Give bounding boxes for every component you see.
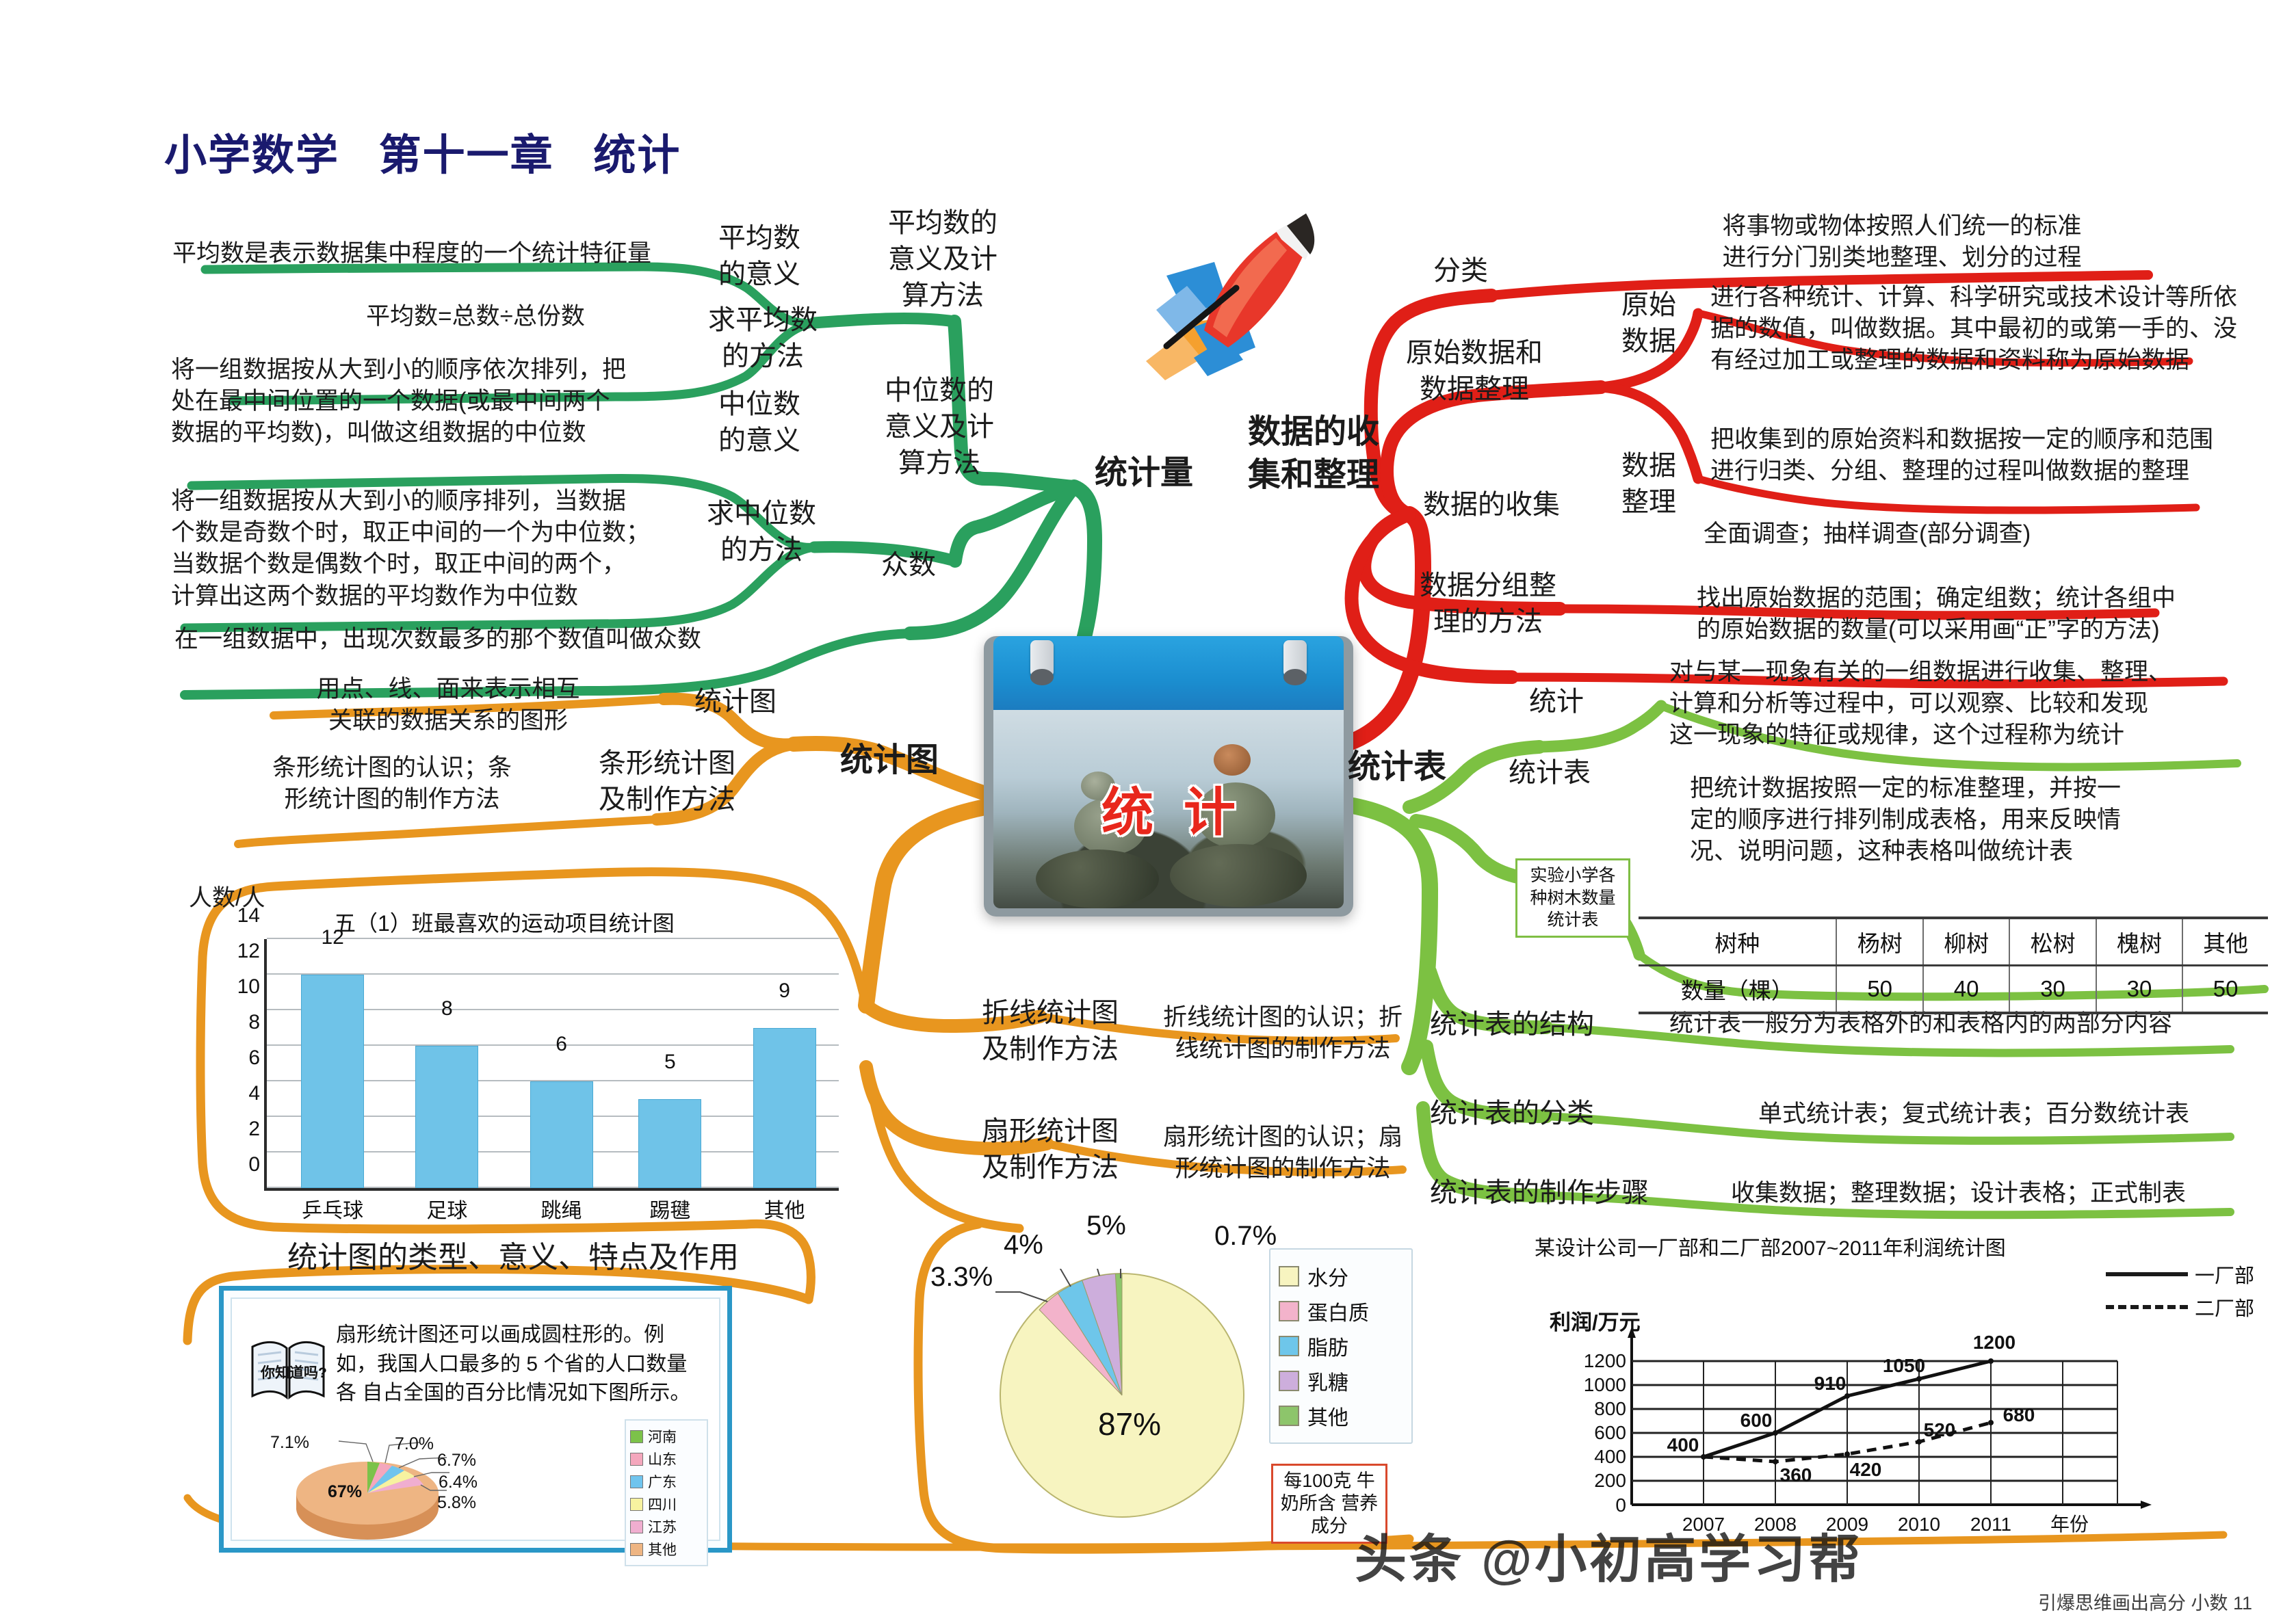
legend-row: 江苏 [630, 1516, 703, 1537]
td-row-label: 数量（棵） [1639, 966, 1836, 1014]
node-median-meaning-method[interactable]: 中位数的 意义及计 算方法 [861, 373, 1018, 481]
table-row: 数量（棵） 50 40 30 30 50 [1639, 966, 2268, 1014]
book-label: 你知道吗? [261, 1362, 327, 1382]
swatch-henan [630, 1430, 643, 1443]
swatch-fat [1279, 1336, 1299, 1356]
bar-0 [301, 975, 364, 1188]
tree-table: 树种 杨树 柳树 松树 槐树 其他 数量（棵） 50 40 30 30 50 [1639, 917, 2268, 1014]
bar-chart-plot: 0 2 4 6 8 10 12 14 12 8 6 5 9 乒乓球 足球 跳绳 … [264, 939, 839, 1191]
lc-val-s1-0: 400 [1667, 1434, 1699, 1455]
legend-water: 水分 [1307, 1261, 1348, 1291]
bar-xlabel-0: 乒乓球 [302, 1194, 363, 1224]
mindmap-page: 小学数学 第十一章 统计 统计 [0, 0, 2296, 1621]
legend-row: 其他 [630, 1539, 703, 1559]
swatch-shandong [630, 1453, 643, 1466]
bar-value-3: 5 [664, 1051, 676, 1074]
detail-median-meaning: 将一组数据按从大到小的顺序依次排列，把 处在最中间位置的一个数据(或最中间两个 … [171, 354, 670, 449]
detail-data-processing: 把收集到的原始资料和数据按一定的顺序和范围 进行归类、分组、整理的过程叫做数据的… [1710, 424, 2278, 487]
legend-row: 脂肪 [1279, 1331, 1403, 1361]
legend-shandong: 山东 [648, 1449, 677, 1469]
ytick-12: 12 [237, 940, 260, 963]
did-you-know-box: 你知道吗? 扇形统计图还可以画成圆柱形的。例 如，我国人口最多的 5 个省的人口… [219, 1286, 732, 1553]
node-mean-meaning[interactable]: 平均数 的意义 [691, 220, 828, 293]
lc-val-s1-3: 1050 [1883, 1355, 1925, 1376]
blue-box-paragraph: 扇形统计图还可以画成圆柱形的。例 如，我国人口最多的 5 个省的人口数量各 自占… [336, 1321, 692, 1408]
td-willow: 40 [1923, 966, 2009, 1014]
line-chart: 某设计公司一厂部和二厂部2007~2011年利润统计图 利润/万元 一厂部 二厂… [1529, 1231, 2268, 1559]
bar-chart-title: 五（1）班最喜欢的运动项目统计图 [334, 906, 675, 938]
ytick-14: 14 [237, 904, 260, 927]
milk-label-5: 5% [1086, 1211, 1126, 1241]
bar-4 [753, 1028, 816, 1188]
bar-xlabel-1: 足球 [426, 1194, 467, 1224]
branch-label-data-collection[interactable]: 数据的收 集和整理 [1204, 410, 1423, 497]
detail-table-classification: 单式统计表；复式统计表；百分数统计表 [1758, 1098, 2278, 1130]
detail-mode: 在一组数据中，出现次数最多的那个数值叫做众数 [174, 624, 790, 655]
node-table-structure[interactable]: 统计表的结构 [1430, 1007, 1649, 1043]
th-pine: 松树 [2009, 918, 2096, 966]
swatch-other [630, 1543, 643, 1556]
legend-other: 其他 [1307, 1401, 1348, 1431]
legend-row: 水分 [1279, 1261, 1403, 1291]
legend-row: 乳糖 [1279, 1366, 1403, 1396]
pop-label-6-7: 6.7% [437, 1451, 476, 1471]
detail-table-steps: 收集数据；整理数据；设计表格；正式制表 [1731, 1178, 2278, 1209]
node-bar-chart-method[interactable]: 条形统计图 及制作方法 [575, 746, 759, 818]
branch-label-stat-chart[interactable]: 统计图 [840, 739, 991, 782]
center-image-card: 统计 [984, 636, 1353, 917]
th-species: 树种 [1639, 918, 1836, 966]
detail-pie-chart-method: 扇形统计图的认识；扇 形统计图的制作方法 [1149, 1122, 1416, 1185]
td-other: 50 [2182, 966, 2268, 1014]
pie-chart-milk [995, 1269, 1249, 1522]
legend-row: 河南 [630, 1426, 703, 1447]
line-chart-plot: 0 200 400 600 800 1000 1200 2007 2008 20… [1529, 1231, 2268, 1559]
swatch-lactose [1279, 1371, 1299, 1391]
bar-value-0: 12 [321, 926, 343, 949]
node-data-gathering[interactable]: 数据的收集 [1409, 487, 1574, 523]
pop-label-6-4: 6.4% [439, 1473, 478, 1492]
node-mean-method[interactable]: 求平均数 的方法 [691, 302, 835, 375]
center-title: 统计 [993, 770, 1344, 845]
swatch-guangdong [630, 1475, 643, 1488]
detail-mean-method: 平均数=总数÷总份数 [294, 301, 657, 332]
legend-other: 其他 [648, 1539, 677, 1559]
swatch-other [1279, 1406, 1299, 1426]
legend-row: 其他 [1279, 1401, 1403, 1431]
rock-6 [1170, 844, 1307, 907]
lc-val-s2-2: 420 [1850, 1459, 1882, 1480]
bar-3 [638, 1099, 701, 1188]
detail-bar-chart-method: 条形统计图的认识；条 形统计图的制作方法 [218, 752, 566, 815]
legend-row: 广东 [630, 1471, 703, 1492]
detail-chart-overview: 用点、线、面来表示相互 关联的数据关系的图形 [253, 674, 643, 737]
bar-1 [415, 1046, 478, 1188]
node-pie-chart-method[interactable]: 扇形统计图 及制作方法 [958, 1113, 1143, 1186]
milk-label-0-7: 0.7% [1214, 1221, 1277, 1252]
binder-hole-left [1030, 669, 1054, 685]
legend-row: 山东 [630, 1449, 703, 1469]
ytick-2: 2 [248, 1118, 260, 1141]
td-locust: 30 [2096, 966, 2182, 1014]
th-poplar: 杨树 [1836, 918, 1922, 966]
td-poplar: 50 [1836, 966, 1922, 1014]
detail-classification: 将事物或物体按照人们统一的标准 进行分门别类地整理、划分的过程 [1656, 211, 2148, 274]
lc-ytick-600: 600 [1594, 1422, 1626, 1443]
milk-label-4: 4% [1004, 1230, 1043, 1261]
lc-val-s2-1: 360 [1780, 1464, 1812, 1486]
th-locust: 槐树 [2096, 918, 2182, 966]
node-table-steps[interactable]: 统计表的制作步骤 [1430, 1175, 1704, 1211]
node-stat-table[interactable]: 统计表 [1478, 755, 1621, 791]
pop-label-5-8: 5.8% [437, 1493, 476, 1513]
node-mean-meaning-method[interactable]: 平均数的 意义及计 算方法 [861, 205, 1025, 313]
bar-chart: 人数/人 五（1）班最喜欢的运动项目统计图 0 2 4 6 8 10 12 14 [183, 879, 861, 1241]
page-title: 小学数学 第十一章 统计 [164, 120, 681, 182]
node-statistics[interactable]: 统计 [1491, 684, 1621, 720]
lc-ytick-400: 400 [1594, 1446, 1626, 1467]
bar-value-1: 8 [441, 997, 453, 1020]
legend-protein: 蛋白质 [1307, 1296, 1369, 1326]
detail-raw-data: 进行各种统计、计算、科学研究或技术设计等所依 据的数值，叫做数据。其中最初的或第… [1710, 282, 2278, 377]
detail-line-chart-method: 折线统计图的认识；折 线统计图的制作方法 [1149, 1002, 1416, 1065]
footer-note: 引爆思维画出高分 小数 11 [2038, 1588, 2252, 1615]
node-raw-data-and-processing[interactable]: 原始数据和 数据整理 [1375, 335, 1574, 408]
swatch-water [1279, 1266, 1299, 1287]
lc-ytick-1000: 1000 [1584, 1374, 1626, 1395]
detail-grouping-method: 找出原始数据的范围；确定组数；统计各组中 的原始数据的数量(可以采用画“正”字的… [1697, 583, 2278, 646]
bar-xlabel-4: 其他 [764, 1194, 805, 1224]
milk-label-3-3: 3.3% [930, 1262, 993, 1293]
rock-5 [1036, 849, 1159, 908]
binder-hole-right [1283, 669, 1307, 685]
pop-pie-legend: 河南 山东 广东 四川 江苏 其他 [625, 1419, 708, 1566]
pop-label-7-0: 7.0% [395, 1434, 434, 1454]
lc-val-s2-4: 680 [2003, 1404, 2035, 1425]
node-median-meaning[interactable]: 中位数 的意义 [691, 386, 828, 459]
node-mode[interactable]: 众数 [847, 547, 970, 583]
legend-guangdong: 广东 [648, 1471, 677, 1492]
watermark: 头条 @小初高学习帮 [1355, 1517, 1863, 1592]
bar-value-2: 6 [556, 1033, 567, 1056]
legend-sichuan: 四川 [648, 1494, 677, 1514]
td-pine: 30 [2009, 966, 2096, 1014]
detail-statistics: 对与某一现象有关的一组数据进行收集、整理、 计算和分析等过程中，可以观察、比较和… [1669, 657, 2258, 752]
legend-row: 四川 [630, 1494, 703, 1514]
lc-val-s1-2: 910 [1814, 1373, 1847, 1394]
pop-label-67: 67% [328, 1482, 362, 1502]
rocket-icon [1139, 197, 1344, 392]
th-other: 其他 [2182, 918, 2268, 966]
detail-mean-meaning: 平均数是表示数据集中程度的一个统计特征量 [172, 238, 679, 269]
swatch-jiangsu [630, 1520, 643, 1533]
pop-label-7-1: 7.1% [270, 1433, 309, 1453]
lc-xlabel: 年份 [2050, 1514, 2089, 1535]
lc-ytick-200: 200 [1594, 1470, 1626, 1491]
milk-label-87: 87% [1098, 1406, 1161, 1442]
ytick-6: 6 [248, 1046, 260, 1070]
swatch-protein [1279, 1301, 1299, 1321]
lc-val-s1-1: 600 [1740, 1410, 1773, 1431]
lc-val-s2-3: 520 [1924, 1419, 1956, 1440]
lc-ytick-1200: 1200 [1584, 1350, 1626, 1371]
bar-xlabel-3: 踢毽 [649, 1194, 690, 1224]
lc-xtick-2010: 2010 [1898, 1514, 1940, 1535]
detail-stat-table: 把统计数据按照一定的标准整理，并按一 定的顺序进行排列制成表格，用来反映情 况、… [1690, 773, 2265, 868]
bar-value-4: 9 [779, 979, 790, 1003]
lc-ytick-800: 800 [1594, 1398, 1626, 1419]
node-table-classification[interactable]: 统计表的分类 [1430, 1096, 1649, 1132]
milk-pie-legend: 水分 蛋白质 脂肪 乳糖 其他 [1269, 1248, 1413, 1444]
node-line-chart-method[interactable]: 折线统计图 及制作方法 [958, 995, 1143, 1068]
legend-lactose: 乳糖 [1307, 1366, 1348, 1396]
ytick-8: 8 [248, 1011, 260, 1034]
node-median-method[interactable]: 求中位数 的方法 [690, 496, 833, 568]
legend-row: 蛋白质 [1279, 1296, 1403, 1326]
node-chart-overview[interactable]: 统计图 [670, 684, 800, 720]
ytick-0: 0 [248, 1153, 260, 1176]
ytick-10: 10 [237, 975, 260, 999]
node-data-processing[interactable]: 数据 整理 [1601, 448, 1697, 520]
legend-fat: 脂肪 [1307, 1331, 1348, 1361]
table-header-row: 树种 杨树 柳树 松树 槐树 其他 [1639, 918, 2268, 966]
node-chart-types-purpose[interactable]: 统计图的类型、意义、特点及作用 [260, 1238, 766, 1278]
node-classification[interactable]: 分类 [1403, 253, 1519, 289]
lc-ytick-0: 0 [1615, 1494, 1626, 1516]
lc-xtick-2011: 2011 [1970, 1514, 2011, 1535]
detail-median-method: 将一组数据按从大到小的顺序排列，当数据 个数是奇数个时，取正中间的一个为中位数；… [171, 486, 677, 612]
bar-xlabel-2: 跳绳 [541, 1194, 582, 1224]
legend-jiangsu: 江苏 [648, 1516, 677, 1537]
lc-val-s1-4: 1200 [1973, 1332, 2015, 1353]
tree-table-caption: 实验小学各 种树木数量 统计表 [1515, 858, 1630, 938]
node-grouping-method[interactable]: 数据分组整 理的方法 [1403, 568, 1574, 640]
bar-2 [530, 1081, 593, 1188]
legend-henan: 河南 [648, 1426, 677, 1447]
th-willow: 柳树 [1923, 918, 2009, 966]
detail-data-gathering: 全面调查；抽样调查(部分调查) [1704, 518, 2251, 550]
node-raw-data[interactable]: 原始 数据 [1601, 287, 1697, 360]
ytick-4: 4 [248, 1082, 260, 1105]
swatch-sichuan [630, 1498, 643, 1511]
